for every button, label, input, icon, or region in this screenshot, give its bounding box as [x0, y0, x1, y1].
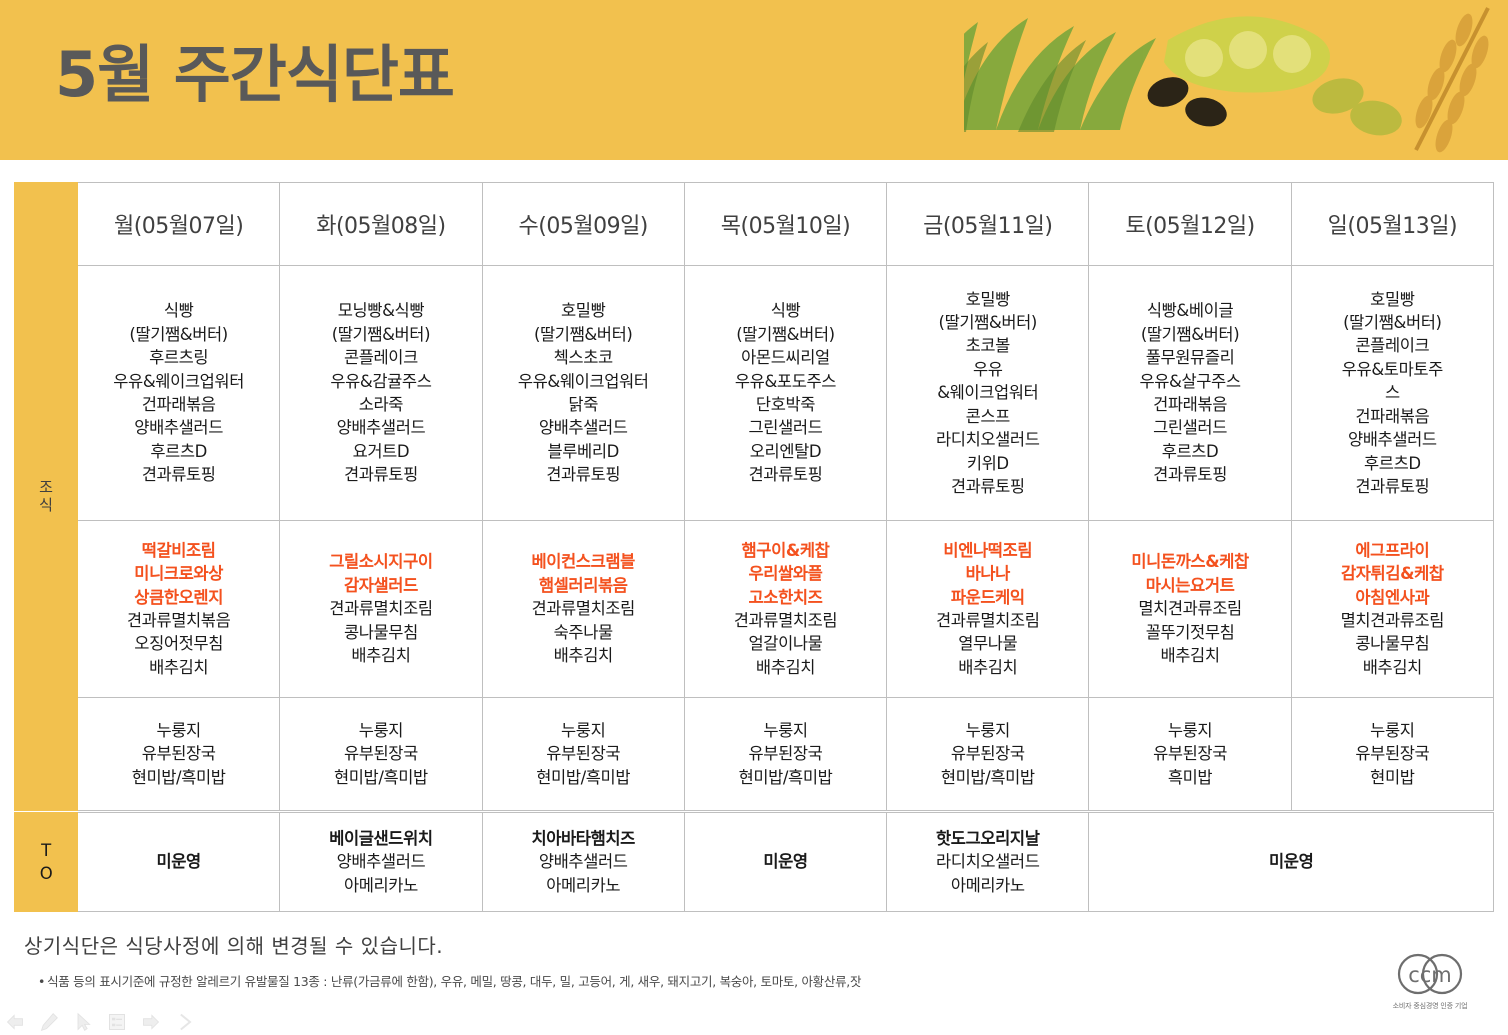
menu-line: 견과류멸치볶음	[127, 611, 230, 630]
footer-allergen-note: •식품 등의 표시기준에 규정한 알레르기 유발물질 13종 : 난류(가금류에…	[38, 971, 861, 990]
menu-line: 누룽지	[966, 721, 1010, 740]
menu-line-highlight: 햄셀러리볶음	[539, 576, 628, 595]
menu-line-highlight: 상큼한오렌지	[134, 588, 223, 607]
menu-line: 콘플레이크	[344, 348, 418, 367]
menu-line: 양배추샐러드	[337, 418, 426, 437]
to-cell-tue: 베이글샌드위치양배추샐러드아메리카노	[280, 813, 482, 912]
menu-line: 첵스초코	[554, 348, 613, 367]
ccm-logo-icon: ccm	[1376, 952, 1484, 996]
menu-line-highlight: 미니크로와상	[134, 564, 223, 583]
menu-line: (딸기쨈&버터)	[939, 313, 1037, 332]
menu-line: (딸기쨈&버터)	[534, 325, 632, 344]
bottom-toolbar	[4, 1012, 196, 1032]
day-header-sat: 토(05월12일)	[1089, 183, 1291, 266]
bread-cell-wed: 호밀빵(딸기쨈&버터)첵스초코우유&웨이크업워터닭죽양배추샐러드블루베리D견과류…	[482, 266, 684, 521]
menu-line-highlight: 비엔나떡조림	[943, 541, 1032, 560]
to-cell-fri: 핫도그오리지날라디치오샐러드아메리카노	[887, 813, 1089, 912]
menu-line: 견과류멸치조림	[329, 599, 432, 618]
menu-line: 견과류토핑	[546, 465, 620, 484]
menu-line: 모닝빵&식빵	[338, 301, 424, 320]
rice-cell-wed: 누룽지유부된장국현미밥/흑미밥	[482, 698, 684, 811]
menu-line: 유부된장국	[546, 744, 620, 763]
main-cell-thu: 햄구이&케찹우리쌀와플고소한치즈견과류멸치조림얼갈이나물배추김치	[684, 521, 886, 698]
to-item: 아메리카노	[951, 876, 1025, 895]
day-header-sun: 일(05월13일)	[1291, 183, 1493, 266]
allergen-bullet: •	[38, 974, 45, 989]
day-header-thu: 목(05월10일)	[684, 183, 886, 266]
menu-line: 멸치견과류조림	[1138, 599, 1241, 618]
menu-line-highlight: 햄구이&케찹	[742, 541, 830, 560]
forward-arrow-icon[interactable]	[140, 1012, 162, 1032]
menu-line-highlight: 에그프라이	[1355, 541, 1429, 560]
bread-cell-fri: 호밀빵(딸기쨈&버터)초코볼우유&웨이크업워터콘스프라디치오샐러드키위D견과류토…	[887, 266, 1089, 521]
menu-line-highlight: 고소한치즈	[749, 588, 823, 607]
menu-line: 호밀빵	[561, 301, 605, 320]
menu-line: 숙주나물	[554, 623, 613, 642]
menu-line: 견과류멸치조림	[531, 599, 634, 618]
menu-line: 견과류토핑	[142, 465, 216, 484]
menu-line: 현미밥/흑미밥	[739, 768, 833, 787]
to-row: TO 미운영 베이글샌드위치양배추샐러드아메리카노 치아바타햄치즈양배추샐러드아…	[15, 813, 1494, 912]
menu-line: 우유&웨이크업워터	[518, 372, 649, 391]
menu-line: 후르츠D	[1162, 442, 1219, 461]
to-table: TO 미운영 베이글샌드위치양배추샐러드아메리카노 치아바타햄치즈양배추샐러드아…	[14, 812, 1494, 912]
ccm-logo-caption: 소비자 중심경영 인증 기업	[1370, 1001, 1490, 1011]
to-cell-wed: 치아바타햄치즈양배추샐러드아메리카노	[482, 813, 684, 912]
main-cell-mon: 떡갈비조림미니크로와상상큼한오렌지견과류멸치볶음오징어젓무침배추김치	[78, 521, 280, 698]
to-title: 베이글샌드위치	[329, 829, 432, 848]
menu-line: 유부된장국	[1153, 744, 1227, 763]
weekly-menu-table-container: 조식 월(05월07일) 화(05월08일) 수(05월09일) 목(05월10…	[14, 182, 1494, 811]
to-item: 라디치오샐러드	[936, 852, 1039, 871]
to-cell-weekend: 미운영	[1089, 813, 1494, 912]
to-cell-mon: 미운영	[78, 813, 280, 912]
bread-row: 식빵(딸기쨈&버터)후르츠링우유&웨이크업워터건파래볶음양배추샐러드후르츠D견과…	[15, 266, 1494, 521]
rice-cell-mon: 누룽지유부된장국현미밥/흑미밥	[78, 698, 280, 811]
menu-line-highlight: 감자샐러드	[344, 576, 418, 595]
menu-line: 견과류토핑	[1355, 477, 1429, 496]
menu-line: 배추김치	[554, 646, 613, 665]
menu-line-highlight: 베이컨스크램블	[531, 552, 634, 571]
menu-line: 그린샐러드	[749, 418, 823, 437]
menu-line: 양배추샐러드	[134, 418, 223, 437]
menu-line: 누룽지	[1370, 721, 1414, 740]
to-item: 아메리카노	[344, 876, 418, 895]
menu-line: 누룽지	[156, 721, 200, 740]
day-header-mon: 월(05월07일)	[78, 183, 280, 266]
rice-row: 누룽지유부된장국현미밥/흑미밥 누룽지유부된장국현미밥/흑미밥 누룽지유부된장국…	[15, 698, 1494, 811]
menu-line-highlight: 파운드케익	[951, 588, 1025, 607]
to-table-container: TO 미운영 베이글샌드위치양배추샐러드아메리카노 치아바타햄치즈양배추샐러드아…	[14, 812, 1494, 912]
weekly-menu-table: 조식 월(05월07일) 화(05월08일) 수(05월09일) 목(05월10…	[14, 182, 1494, 811]
allergen-text: 식품 등의 표시기준에 규정한 알레르기 유발물질 13종 : 난류(가금류에 …	[47, 974, 861, 989]
main-cell-tue: 그릴소시지구이감자샐러드견과류멸치조림콩나물무침배추김치	[280, 521, 482, 698]
to-title: 핫도그오리지날	[936, 829, 1039, 848]
menu-line-highlight: 마시는요거트	[1146, 576, 1235, 595]
rice-cell-thu: 누룽지유부된장국현미밥/흑미밥	[684, 698, 886, 811]
row-label-breakfast: 조식	[15, 183, 78, 811]
menu-line: 배추김치	[1160, 646, 1219, 665]
menu-line: 건파래볶음	[142, 395, 216, 414]
menu-line: (딸기쨈&버터)	[1343, 313, 1441, 332]
page-title: 5월 주간식단표	[55, 44, 454, 106]
menu-line: 열무나물	[958, 634, 1017, 653]
table-header-row: 조식 월(05월07일) 화(05월08일) 수(05월09일) 목(05월10…	[15, 183, 1494, 266]
menu-line: 우유&살구주스	[1139, 372, 1240, 391]
menu-line: 우유&웨이크업워터	[113, 372, 244, 391]
menu-line: 우유&감귤주스	[330, 372, 431, 391]
menu-line: 꼴뚜기젓무침	[1146, 623, 1235, 642]
cursor-icon[interactable]	[72, 1012, 94, 1032]
menu-line: 오리엔탈D	[750, 442, 821, 461]
menu-line: 건파래볶음	[1153, 395, 1227, 414]
menu-line-highlight: 미니돈까스&케찹	[1131, 552, 1248, 571]
rice-cell-sat: 누룽지유부된장국흑미밥	[1089, 698, 1291, 811]
menu-line: 유부된장국	[749, 744, 823, 763]
menu-line: 오징어젓무침	[134, 634, 223, 653]
menu-line: 현미밥/흑미밥	[536, 768, 630, 787]
menu-line: 호밀빵	[1370, 290, 1414, 309]
menu-line: 배추김치	[1363, 658, 1422, 677]
menu-line: 유부된장국	[1355, 744, 1429, 763]
menu-line: 우유&포도주스	[735, 372, 836, 391]
menu-line: (딸기쨈&버터)	[129, 325, 227, 344]
menu-line: 양배추샐러드	[1348, 430, 1437, 449]
menu-line: 소라죽	[359, 395, 403, 414]
menu-line: 견과류멸치조림	[936, 611, 1039, 630]
main-cell-wed: 베이컨스크램블햄셀러리볶음견과류멸치조림숙주나물배추김치	[482, 521, 684, 698]
footer-change-note: 상기식단은 식당사정에 의해 변경될 수 있습니다.	[24, 930, 443, 959]
menu-line: 현미밥	[1370, 768, 1414, 787]
main-cell-sun: 에그프라이감자튀김&케찹아침엔사과멸치견과류조림콩나물무침배추김치	[1291, 521, 1493, 698]
menu-line-highlight: 감자튀김&케찹	[1341, 564, 1444, 583]
row-label-to: TO	[15, 813, 78, 912]
menu-line: 유부된장국	[344, 744, 418, 763]
menu-line: (딸기쨈&버터)	[1141, 325, 1239, 344]
menu-line: 유부된장국	[951, 744, 1025, 763]
menu-line: 배추김치	[958, 658, 1017, 677]
ccm-certification-logo: ccm 소비자 중심경영 인증 기업	[1370, 952, 1490, 1011]
main-cell-sat: 미니돈까스&케찹마시는요거트멸치견과류조림꼴뚜기젓무침배추김치	[1089, 521, 1291, 698]
menu-line: 누룽지	[1168, 721, 1212, 740]
main-cell-fri: 비엔나떡조림바나나파운드케익견과류멸치조림열무나물배추김치	[887, 521, 1089, 698]
menu-line: 배추김치	[149, 658, 208, 677]
menu-line: 우유&토마토주	[1342, 360, 1443, 379]
menu-line: 견과류멸치조림	[734, 611, 837, 630]
to-item: 양배추샐러드	[539, 852, 628, 871]
menu-line: &웨이크업워터	[937, 383, 1038, 402]
menu-line: 호밀빵	[966, 290, 1010, 309]
to-title: 미운영	[1269, 852, 1313, 871]
menu-line-highlight: 떡갈비조림	[142, 541, 216, 560]
menu-line: 라디치오샐러드	[936, 430, 1039, 449]
bread-cell-tue: 모닝빵&식빵(딸기쨈&버터)콘플레이크우유&감귤주스소라죽양배추샐러드요거트D견…	[280, 266, 482, 521]
menu-line: 누룽지	[763, 721, 807, 740]
menu-line: 단호박죽	[756, 395, 815, 414]
bread-cell-mon: 식빵(딸기쨈&버터)후르츠링우유&웨이크업워터건파래볶음양배추샐러드후르츠D견과…	[78, 266, 280, 521]
menu-line-highlight: 우리쌀와플	[749, 564, 823, 583]
menu-line: 양배추샐러드	[539, 418, 628, 437]
menu-line: 요거트D	[353, 442, 410, 461]
row-label-to-text: TO	[38, 839, 55, 886]
menu-line: 누룽지	[359, 721, 403, 740]
menu-line: 콘플레이크	[1355, 336, 1429, 355]
bread-cell-thu: 식빵(딸기쨈&버터)아몬드씨리얼우유&포도주스단호박죽그린샐러드오리엔탈D견과류…	[684, 266, 886, 521]
menu-line: 흑미밥	[1168, 768, 1212, 787]
menu-line: 키위D	[967, 454, 1009, 473]
menu-line: (딸기쨈&버터)	[332, 325, 430, 344]
menu-line: 블루베리D	[547, 442, 618, 461]
menu-line: 닭죽	[568, 395, 598, 414]
rice-cell-fri: 누룽지유부된장국현미밥/흑미밥	[887, 698, 1089, 811]
page-banner: 5월 주간식단표	[0, 0, 1508, 160]
menu-line: 얼갈이나물	[749, 634, 823, 653]
to-cell-thu: 미운영	[684, 813, 886, 912]
pencil-icon[interactable]	[38, 1012, 60, 1032]
menu-line: 콩나물무침	[344, 623, 418, 642]
svg-text:ccm: ccm	[1408, 963, 1452, 987]
rice-cell-sun: 누룽지유부된장국현미밥	[1291, 698, 1493, 811]
menu-line: 풀무원뮤즐리	[1146, 348, 1235, 367]
menu-line: 견과류토핑	[749, 465, 823, 484]
to-item: 아메리카노	[546, 876, 620, 895]
menu-line: 현미밥/흑미밥	[132, 768, 226, 787]
menu-line: 유부된장국	[142, 744, 216, 763]
menu-line: 배추김치	[756, 658, 815, 677]
menu-line: 후르츠D	[150, 442, 207, 461]
menu-line-highlight: 아침엔사과	[1355, 588, 1429, 607]
rice-cell-tue: 누룽지유부된장국현미밥/흑미밥	[280, 698, 482, 811]
to-title: 치아바타햄치즈	[531, 829, 634, 848]
menu-line: (딸기쨈&버터)	[736, 325, 834, 344]
menu-line: 콘스프	[966, 407, 1010, 426]
menu-line: 콩나물무침	[1355, 634, 1429, 653]
menu-line: 현미밥/흑미밥	[334, 768, 428, 787]
to-title: 미운영	[156, 852, 200, 871]
menu-line: 식빵	[164, 301, 194, 320]
menu-line: 아몬드씨리얼	[741, 348, 830, 367]
day-header-wed: 수(05월09일)	[482, 183, 684, 266]
menu-line: 후르츠링	[149, 348, 208, 367]
menu-line: 후르츠D	[1364, 454, 1421, 473]
to-item: 양배추샐러드	[337, 852, 426, 871]
main-dish-row: 떡갈비조림미니크로와상상큼한오렌지견과류멸치볶음오징어젓무침배추김치 그릴소시지…	[15, 521, 1494, 698]
menu-line: 견과류토핑	[951, 477, 1025, 496]
menu-line: 배추김치	[351, 646, 410, 665]
banner-decoration-artwork	[868, 0, 1508, 160]
day-header-fri: 금(05월11일)	[887, 183, 1089, 266]
bread-cell-sat: 식빵&베이글(딸기쨈&버터)풀무원뮤즐리우유&살구주스건파래볶음그린샐러드후르츠…	[1089, 266, 1291, 521]
menu-line: 멸치견과류조림	[1341, 611, 1444, 630]
menu-line: 식빵&베이글	[1147, 301, 1233, 320]
menu-line: 초코볼	[966, 336, 1010, 355]
menu-line: 견과류토핑	[1153, 465, 1227, 484]
menu-line-highlight: 그릴소시지구이	[329, 552, 432, 571]
menu-line: 누룽지	[561, 721, 605, 740]
menu-line: 현미밥/흑미밥	[941, 768, 1035, 787]
menu-line: 스	[1385, 383, 1400, 402]
menu-line: 건파래볶음	[1355, 407, 1429, 426]
menu-line: 우유	[973, 360, 1003, 379]
to-title: 미운영	[763, 852, 807, 871]
list-icon[interactable]	[106, 1012, 128, 1032]
day-header-tue: 화(05월08일)	[280, 183, 482, 266]
menu-line-highlight: 바나나	[966, 564, 1010, 583]
menu-line: 견과류토핑	[344, 465, 418, 484]
row-label-breakfast-text: 조식	[39, 479, 54, 514]
bread-cell-sun: 호밀빵(딸기쨈&버터)콘플레이크우유&토마토주스건파래볶음양배추샐러드후르츠D견…	[1291, 266, 1493, 521]
menu-line: 식빵	[771, 301, 801, 320]
back-arrow-icon[interactable]	[4, 1012, 26, 1032]
chevron-right-icon[interactable]	[174, 1012, 196, 1032]
menu-line: 그린샐러드	[1153, 418, 1227, 437]
